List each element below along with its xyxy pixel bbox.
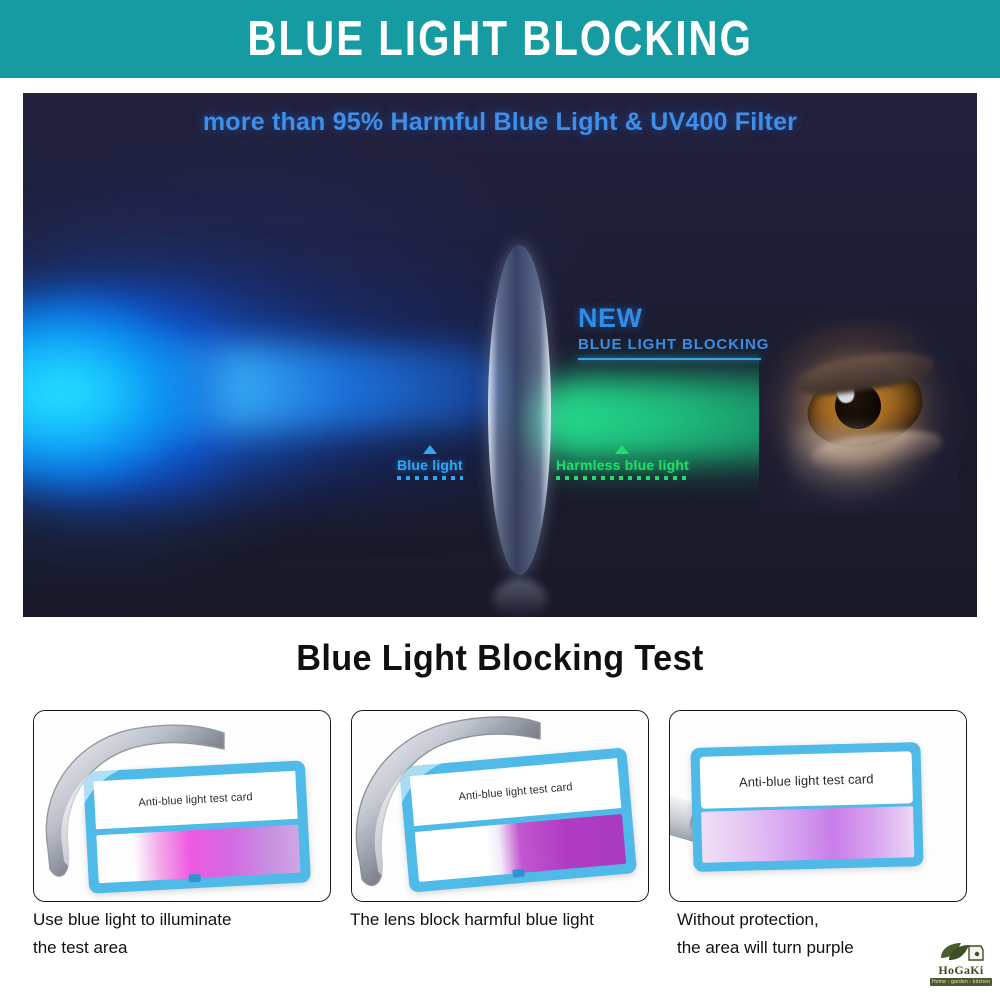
test-photo-card: Anti-blue light test card xyxy=(351,710,649,902)
label-blue-light: Blue light xyxy=(397,445,463,480)
brand-logo: HoGaKi Home - garden - kitchen xyxy=(930,940,992,992)
test-photo-2: Anti-blue light test card xyxy=(352,711,648,901)
test-card-label: Anti-blue light test card xyxy=(138,791,253,809)
test-card-label-area: Anti-blue light test card xyxy=(700,751,913,809)
label-blue-light-dots xyxy=(397,476,463,480)
test-photo-card: Anti-blue light test card xyxy=(669,710,967,902)
lens-icon xyxy=(488,245,551,575)
caption-1: Use blue light to illuminate the test ar… xyxy=(33,906,333,984)
hero-panel: more than 95% Harmful Blue Light & UV400… xyxy=(23,93,977,617)
new-badge-title: NEW xyxy=(578,305,769,332)
new-badge-underline xyxy=(578,358,761,360)
label-harmless-dots xyxy=(556,476,689,480)
caption-1-line-2: the test area xyxy=(33,934,333,962)
test-card-label-area: Anti-blue light test card xyxy=(93,771,297,830)
lens-reflection xyxy=(493,579,547,617)
brand-tagline: Home - garden - kitchen xyxy=(930,978,992,986)
new-badge: NEW BLUE LIGHT BLOCKING xyxy=(578,305,769,360)
caption-1-line-1: Use blue light to illuminate xyxy=(33,906,333,934)
label-blue-light-text: Blue light xyxy=(397,457,463,473)
label-harmless-blue-light: Harmless blue light xyxy=(556,445,689,480)
caption-2-line-1: The lens block harmful blue light xyxy=(350,906,660,934)
test-section-title: Blue Light Blocking Test xyxy=(25,637,975,679)
label-harmless-text: Harmless blue light xyxy=(556,457,689,473)
caption-2: The lens block harmful blue light xyxy=(350,906,660,984)
triangle-up-icon xyxy=(615,445,629,454)
test-photo-3: Anti-blue light test card xyxy=(670,711,966,901)
leaf-house-glyph xyxy=(935,940,987,964)
test-card-color-strip xyxy=(701,806,914,863)
anti-blue-test-card: Anti-blue light test card xyxy=(399,747,637,892)
caption-row: Use blue light to illuminate the test ar… xyxy=(33,906,967,984)
test-photo-card: Anti-blue light test card xyxy=(33,710,331,902)
banner-title: BLUE LIGHT BLOCKING xyxy=(247,15,752,64)
test-card-notch xyxy=(188,874,200,883)
hero-headline: more than 95% Harmful Blue Light & UV400… xyxy=(23,108,977,137)
triangle-up-icon xyxy=(423,445,437,454)
test-card-label: Anti-blue light test card xyxy=(458,781,573,803)
test-card-label: Anti-blue light test card xyxy=(739,771,874,790)
leaf-house-icon xyxy=(935,940,987,964)
test-card-notch xyxy=(512,869,525,878)
test-card-gallery: Anti-blue light test card xyxy=(33,710,967,900)
header-banner: BLUE LIGHT BLOCKING xyxy=(0,0,1000,78)
new-badge-subtitle: BLUE LIGHT BLOCKING xyxy=(578,337,769,354)
test-photo-1: Anti-blue light test card xyxy=(34,711,330,901)
eye-vignette xyxy=(759,308,959,513)
eye-icon xyxy=(759,308,959,513)
anti-blue-test-card: Anti-blue light test card xyxy=(690,742,923,872)
anti-blue-test-card: Anti-blue light test card xyxy=(83,760,311,893)
caption-3: Without protection, the area will turn p… xyxy=(677,906,967,984)
caption-3-line-2: the area will turn purple xyxy=(677,934,967,962)
brand-name: HoGaKi xyxy=(930,964,992,977)
blue-light-source-icon xyxy=(23,288,223,498)
infographic-page: BLUE LIGHT BLOCKING more than 95% Harmfu… xyxy=(0,0,1000,1000)
caption-3-line-1: Without protection, xyxy=(677,906,967,934)
